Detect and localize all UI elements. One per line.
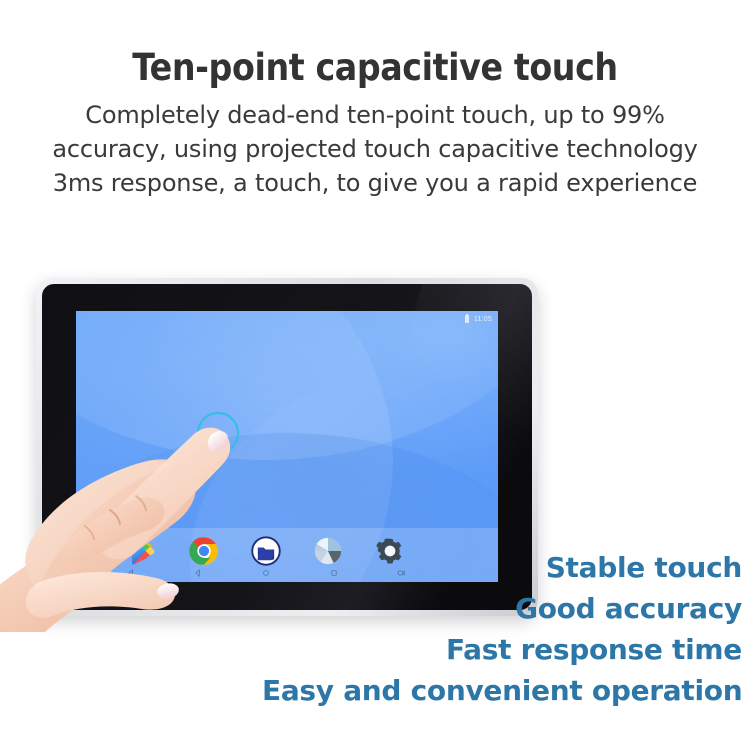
back-triangle-icon[interactable]	[127, 569, 135, 577]
feature-list: Stable touch Good accuracy Fast response…	[262, 548, 742, 712]
feature-item: Easy and convenient operation	[262, 671, 742, 712]
touch-ripple-ring	[197, 412, 239, 454]
description-line-1: Completely dead-end ten-point touch, up …	[0, 98, 750, 132]
wallpaper-swoosh	[76, 311, 498, 460]
status-clock: 11:05	[474, 316, 492, 323]
feature-item: Good accuracy	[262, 589, 742, 630]
tablet-screen[interactable]: 11:05	[76, 311, 498, 582]
back-triangle-icon[interactable]	[194, 569, 202, 577]
battery-icon	[465, 315, 469, 323]
description-line-2: accuracy, using projected touch capaciti…	[0, 132, 750, 166]
page-title: Ten-point capacitive touch	[0, 46, 750, 90]
description-line-3: 3ms response, a touch, to give you a rap…	[0, 166, 750, 200]
feature-item: Stable touch	[262, 548, 742, 589]
header-text-block: Ten-point capacitive touch Completely de…	[0, 46, 750, 200]
feature-item: Fast response time	[262, 630, 742, 671]
page-description: Completely dead-end ten-point touch, up …	[0, 98, 750, 200]
status-bar: 11:05	[465, 313, 492, 325]
play-store-icon[interactable]	[127, 536, 157, 566]
chrome-icon[interactable]	[189, 536, 219, 566]
